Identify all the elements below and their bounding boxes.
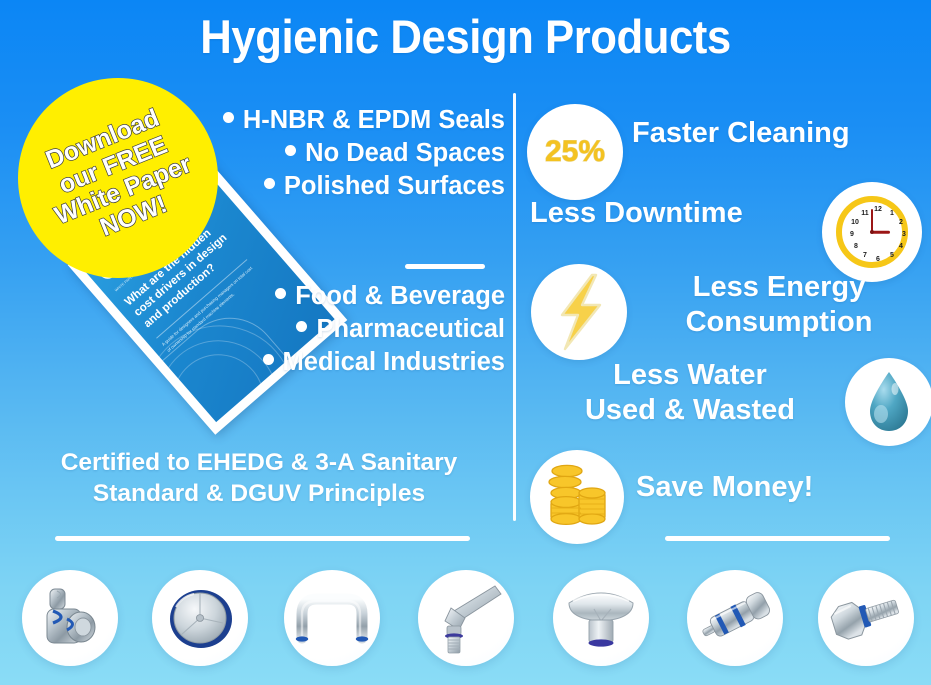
percent-25-icon: 25% [527,104,623,200]
footer-divider-left [55,536,470,541]
indexing-plunger-glyph [694,582,776,654]
clock-number: 9 [847,231,857,238]
bullet-dot-icon [296,321,307,332]
product-tubular-pull-handle[interactable] [284,570,380,666]
water-drop-glyph [864,370,914,434]
list-item-label: Pharmaceutical [316,315,505,343]
clock-number: 3 [899,231,909,238]
clock-hour-hand [872,231,890,234]
coin-stack-icon [530,450,624,544]
product-hygienic-disc-knob[interactable] [152,570,248,666]
benefit-faster-cleaning: Faster Cleaning [632,116,850,151]
infographic-canvas: Hygienic Design Products G Ganter Norm W… [0,0,931,685]
hygienic-clamping-lever-glyph [427,578,505,658]
list-item-label: H-NBR & EPDM Seals [243,106,505,134]
quarter-turn-latch-glyph [31,579,109,657]
hygienic-hex-bolt-glyph [825,585,907,651]
list-item: Polished Surfaces [160,170,505,203]
clock-icon: 12 1 2 3 4 5 6 7 8 9 10 11 [822,182,922,282]
bullet-dot-icon [223,112,234,123]
clock-number: 2 [896,219,906,226]
clock-number: 11 [860,210,870,217]
lightning-bolt-glyph [548,273,610,351]
clock-center-pin [870,230,874,234]
hygienic-mushroom-knob-glyph [561,581,641,655]
list-item: No Dead Spaces [160,137,505,170]
list-item: Food & Beverage [160,280,505,313]
hygienic-disc-knob-glyph [161,579,239,657]
product-indexing-plunger[interactable] [687,570,783,666]
clock-number: 1 [887,210,897,217]
page-title: Hygienic Design Products [33,8,899,66]
product-hygienic-clamping-lever[interactable] [418,570,514,666]
tubular-pull-handle-glyph [290,582,374,654]
clock-number: 4 [896,243,906,250]
feature-list-materials: H-NBR & EPDM Seals No Dead Spaces Polish… [160,104,505,203]
bullet-dot-icon [263,354,274,365]
certification-text: Certified to EHEDG & 3-A Sanitary Standa… [14,447,504,509]
water-drop-icon [845,358,931,446]
benefit-less-water: Less Water Used & Wasted [560,358,820,428]
clock-minute-hand [871,209,873,232]
list-item: H-NBR & EPDM Seals [160,104,505,137]
list-item-label: Medical Industries [283,348,505,376]
list-item-label: No Dead Spaces [305,139,505,167]
clock-number: 6 [873,256,883,263]
list-divider [405,264,485,269]
coin-stack-glyph [543,462,611,532]
clock-number: 8 [851,243,861,250]
footer-divider-right [665,536,890,541]
list-item-label: Polished Surfaces [284,172,505,200]
clock-face: 12 1 2 3 4 5 6 7 8 9 10 11 [836,196,908,268]
bullet-dot-icon [275,288,286,299]
feature-list-industries: Food & Beverage Pharmaceutical Medical I… [160,280,505,379]
clock-number: 12 [873,206,883,213]
bullet-dot-icon [264,178,275,189]
clock-number: 10 [850,219,860,226]
list-item: Pharmaceutical [160,313,505,346]
lightning-bolt-icon [531,264,627,360]
benefit-less-energy: Less Energy Consumption [634,270,924,340]
column-divider [513,93,516,521]
clock-number: 5 [887,252,897,259]
benefit-save-money: Save Money! [636,470,813,505]
product-quarter-turn-latch[interactable] [22,570,118,666]
benefit-less-downtime: Less Downtime [530,196,743,231]
list-item-label: Food & Beverage [295,282,505,310]
percent-25-value: 25% [545,135,605,169]
list-item: Medical Industries [160,346,505,379]
clock-number: 7 [860,252,870,259]
product-hygienic-hex-bolt[interactable] [818,570,914,666]
bullet-dot-icon [285,145,296,156]
product-hygienic-mushroom-knob[interactable] [553,570,649,666]
